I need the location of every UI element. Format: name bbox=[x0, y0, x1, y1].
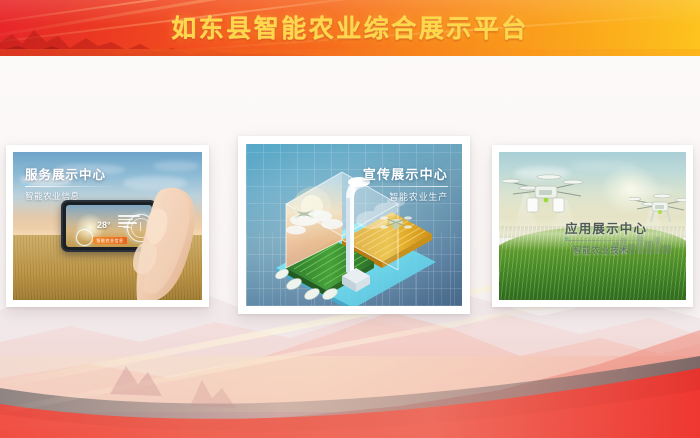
hud-chip-label: 智能农业信息 bbox=[93, 237, 127, 244]
hud-temperature-value: 28° bbox=[97, 220, 111, 230]
card-application-display-center[interactable]: 应用展示中心 智能农业技术 bbox=[492, 145, 693, 307]
hud-small-ring-icon bbox=[76, 229, 93, 246]
app-stage: 如东县智能农业综合展示平台 bbox=[0, 0, 700, 438]
card-promotion-display-center[interactable]: 宣传展示中心 智能农业生产 bbox=[238, 136, 470, 314]
card-application-title: 应用展示中心 bbox=[565, 218, 655, 237]
hand-holding-phone bbox=[131, 182, 202, 300]
card-service-divider bbox=[25, 186, 113, 187]
card-promotion-labels: 宣传展示中心 智能农业生产 bbox=[348, 164, 448, 203]
page-title: 如东县智能农业综合展示平台 bbox=[0, 9, 700, 45]
banner-bottom-band bbox=[0, 49, 700, 56]
hud-info-chip: 智能农业信息 bbox=[93, 237, 127, 244]
card-service-inner: 28° 智能农业信息 bbox=[13, 152, 202, 300]
card-promotion-subtitle: 智能农业生产 bbox=[348, 190, 448, 203]
bullet-dot-icon bbox=[565, 237, 568, 240]
agricultural-drone-left bbox=[503, 168, 589, 224]
bullet-dot-icon bbox=[25, 183, 28, 186]
card-application-inner: 应用展示中心 智能农业技术 bbox=[499, 152, 686, 300]
card-promotion-divider bbox=[348, 186, 448, 187]
card-service-labels: 服务展示中心 智能农业信息 bbox=[25, 164, 113, 202]
card-service-subtitle: 智能农业信息 bbox=[25, 190, 113, 202]
card-service-display-center[interactable]: 28° 智能农业信息 bbox=[6, 145, 209, 307]
card-promotion-title: 宣传展示中心 bbox=[348, 164, 448, 183]
header-banner: 如东县智能农业综合展示平台 bbox=[0, 0, 700, 56]
card-promotion-inner: 宣传展示中心 智能农业生产 bbox=[246, 144, 462, 306]
card-application-divider bbox=[565, 240, 655, 241]
card-service-title: 服务展示中心 bbox=[25, 164, 113, 183]
cloud bbox=[153, 161, 199, 171]
card-application-labels: 应用展示中心 智能农业技术 bbox=[565, 218, 655, 256]
card-application-subtitle: 智能农业技术 bbox=[573, 244, 655, 256]
